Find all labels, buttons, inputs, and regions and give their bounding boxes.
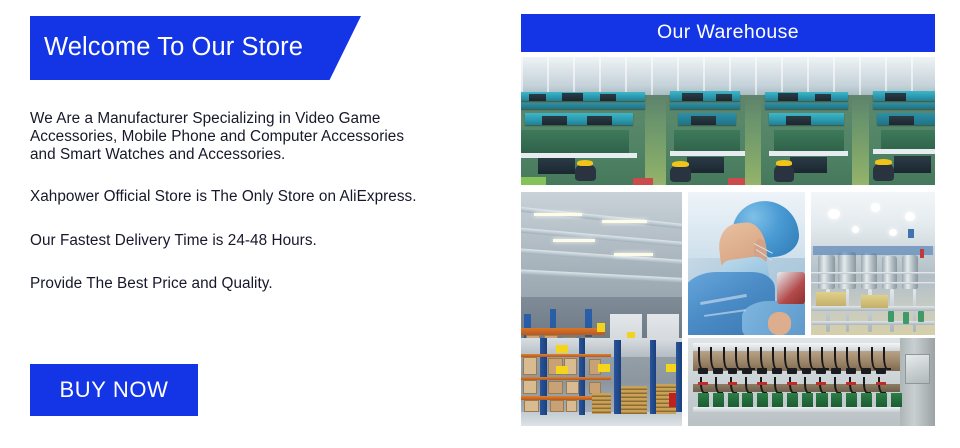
warehouse-banner-label: Our Warehouse [657,23,799,43]
worker-hand [768,312,791,335]
store-intro-panel: Welcome To Our Store We Are a Manufactur… [0,0,512,448]
paragraph-manufacturer-line2: Accessories, Mobile Phone and Computer A… [30,128,500,146]
photo-pallet-storage-racks [521,338,682,426]
photo-factory-assembly-floor [521,57,935,185]
buy-now-button[interactable]: BUY NOW [30,364,198,416]
tanks-ceiling [811,192,935,249]
photo-worker-assembling-product [688,192,805,335]
store-description-block: We Are a Manufacturer Specializing in Vi… [30,110,500,293]
welcome-banner: Welcome To Our Store [30,16,361,80]
factory-machine-rows [521,90,935,185]
worker-workpiece [777,272,805,303]
store-banner-page: Welcome To Our Store We Are a Manufactur… [0,0,960,448]
photo-production-line-tanks [811,192,935,335]
welcome-banner-label: Welcome To Our Store [30,35,303,61]
buy-now-label: BUY NOW [60,379,169,401]
warehouse-gallery-panel: Our Warehouse [512,0,960,448]
cables-bottom-shelf [693,407,900,412]
paragraph-manufacturer: We Are a Manufacturer Specializing in Vi… [30,110,500,164]
paragraph-price-quality: Provide The Best Price and Quality. [30,275,500,293]
warehouse-banner: Our Warehouse [521,14,935,52]
paragraph-manufacturer-line1: We Are a Manufacturer Specializing in Vi… [30,110,500,128]
photo-cable-testing-rack [688,338,935,426]
paragraph-official-store: Xahpower Official Store is The Only Stor… [30,188,500,206]
paragraph-delivery-time: Our Fastest Delivery Time is 24-48 Hours… [30,232,500,250]
cables-wall-panel [905,354,930,384]
paragraph-manufacturer-line3: and Smart Watches and Accessories. [30,146,500,164]
